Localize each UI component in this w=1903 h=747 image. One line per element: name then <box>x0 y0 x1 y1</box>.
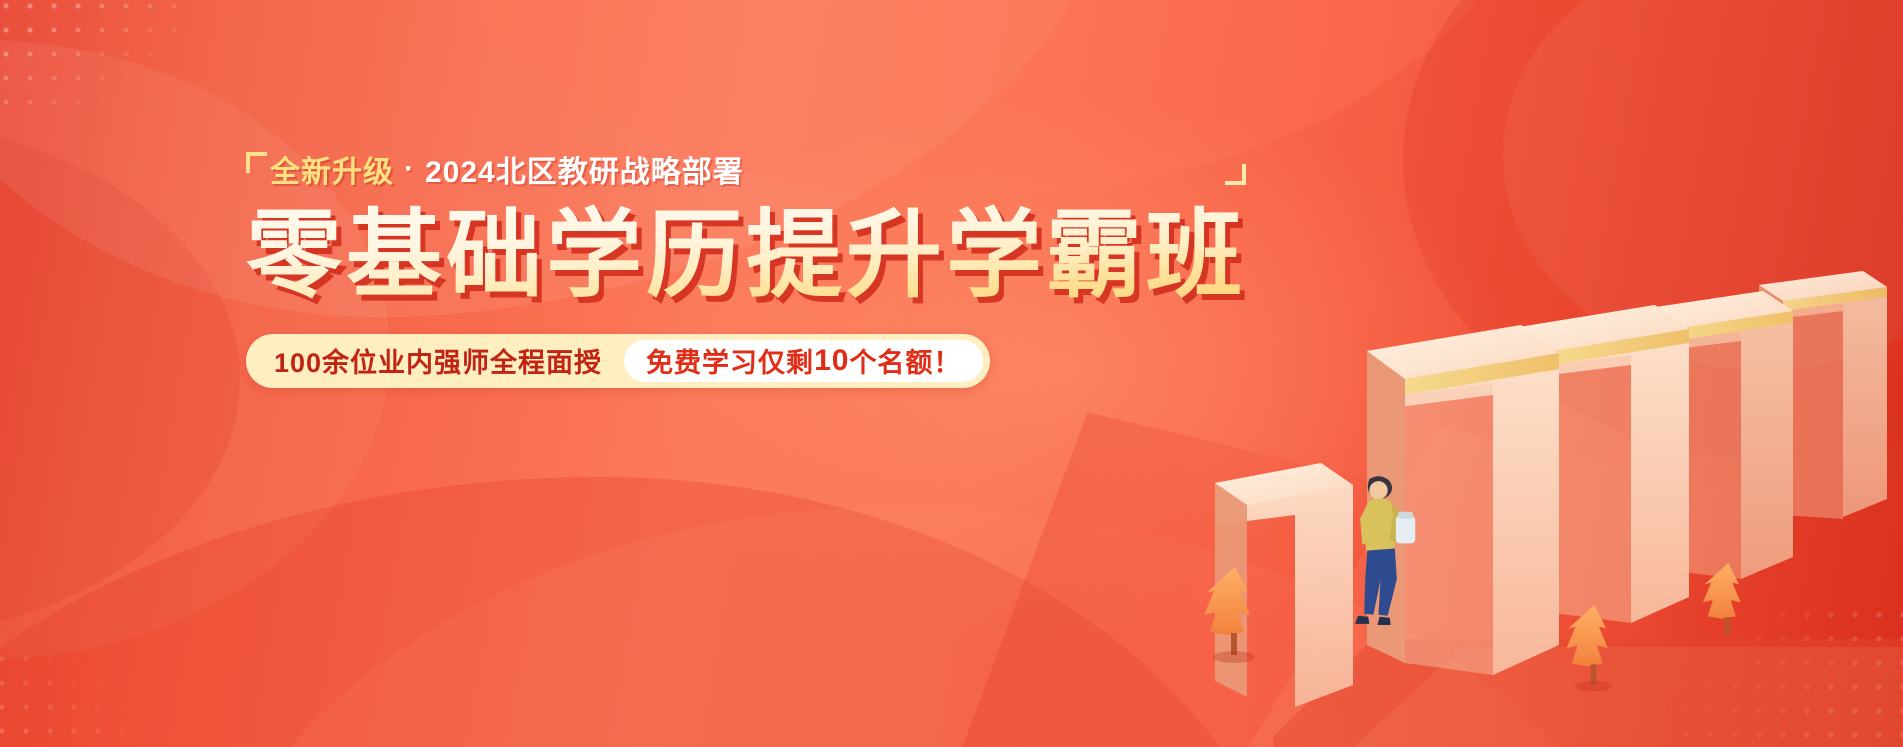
banner-subtitle: 全新升级 · 2024北区教研战略部署 <box>246 146 1246 192</box>
pill-teachers-label: 100余位业内强师全程面授 <box>274 341 624 380</box>
offer-pill: 100余位业内强师全程面授 免费学习仅剩 10 个名额！ <box>246 334 990 388</box>
badge-prefix: 免费学习仅剩 <box>646 341 814 380</box>
badge-seat-count: 10 <box>814 344 849 378</box>
promo-banner: 全新升级 · 2024北区教研战略部署 零基础学历提升学霸班 100余位业内强师… <box>0 0 1903 747</box>
dot-grid-top-left <box>0 0 184 114</box>
isometric-books-illustration <box>1203 267 1903 747</box>
corner-bracket-left-icon <box>246 152 267 173</box>
subtitle-rest: 2024北区教研战略部署 <box>425 147 744 191</box>
subtitle-highlight: 全新升级 <box>270 147 394 191</box>
badge-suffix: 个名额！ <box>849 341 961 380</box>
status-badge: 免费学习仅剩 10 个名额！ <box>624 340 983 382</box>
page-title: 零基础学历提升学霸班 <box>246 204 1246 308</box>
dot-grid-bottom-left <box>0 647 140 747</box>
banner-copy: 全新升级 · 2024北区教研战略部署 零基础学历提升学霸班 100余位业内强师… <box>246 146 1246 388</box>
corner-bracket-right-icon <box>1225 164 1246 185</box>
subtitle-separator: · <box>404 152 415 186</box>
